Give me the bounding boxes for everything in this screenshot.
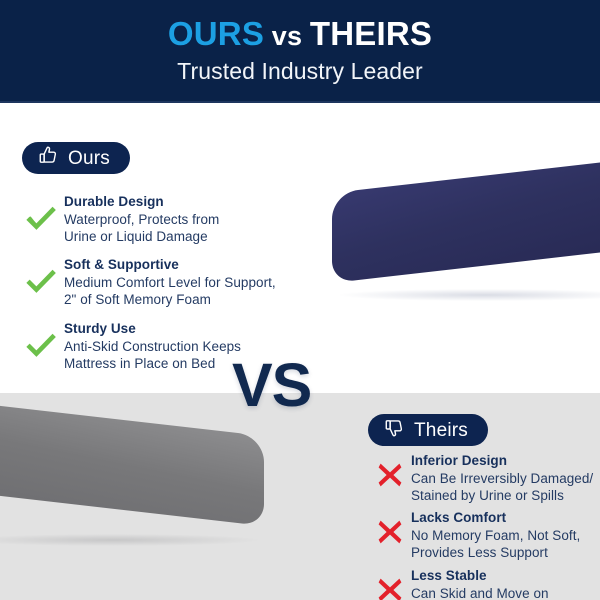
list-item: Soft & Supportive Medium Comfort Level f… [24,256,294,308]
title-theirs: THEIRS [310,15,432,52]
feature-description: No Memory Foam, Not Soft, Provides Less … [411,527,600,561]
cross-icon [376,518,404,546]
thumbs-up-icon [38,145,59,171]
theirs-badge-label: Theirs [414,421,468,440]
theirs-product-image [0,436,264,548]
feature-description: Waterproof, Protects from Urine or Liqui… [64,211,294,245]
feature-title: Lacks Comfort [411,510,506,525]
vs-divider: VS [232,355,311,416]
feature-title: Durable Design [64,194,164,209]
theirs-badge: Theirs [368,414,488,446]
ours-badge: Ours [22,142,130,174]
cross-icon [376,576,404,600]
feature-description: Can Skid and Move on Bedframe for Uncomf… [411,585,600,600]
list-item: Inferior Design Can Be Irreversibly Dama… [376,452,600,504]
ours-badge-label: Ours [68,149,110,168]
ours-product-image [332,193,600,305]
feature-title: Inferior Design [411,453,507,468]
gray-mattress-shadow [0,534,258,546]
check-icon [24,264,58,298]
page-title: OURS vs THEIRS [168,16,432,52]
thumbs-down-icon [384,417,405,443]
check-icon [24,201,58,235]
header-banner: OURS vs THEIRS Trusted Industry Leader [0,0,600,103]
feature-title: Soft & Supportive [64,257,179,272]
feature-title: Sturdy Use [64,321,136,336]
page-subtitle: Trusted Industry Leader [177,58,423,85]
feature-description: Can Be Irreversibly Damaged/ Stained by … [411,470,600,504]
navy-mattress-shadow [340,289,600,301]
title-ours: OURS [168,15,264,52]
feature-title: Less Stable [411,568,487,583]
list-item: Durable Design Waterproof, Protects from… [24,193,294,245]
check-icon [24,328,58,362]
cross-icon [376,461,404,489]
title-vs: vs [264,21,310,51]
feature-description: Medium Comfort Level for Support, 2" of … [64,274,294,308]
list-item: Lacks Comfort No Memory Foam, Not Soft, … [376,509,600,561]
list-item: Less Stable Can Skid and Move on Bedfram… [376,567,600,600]
comparison-infographic: OURS vs THEIRS Trusted Industry Leader O… [0,0,600,600]
theirs-feature-list: Inferior Design Can Be Irreversibly Dama… [376,452,600,600]
